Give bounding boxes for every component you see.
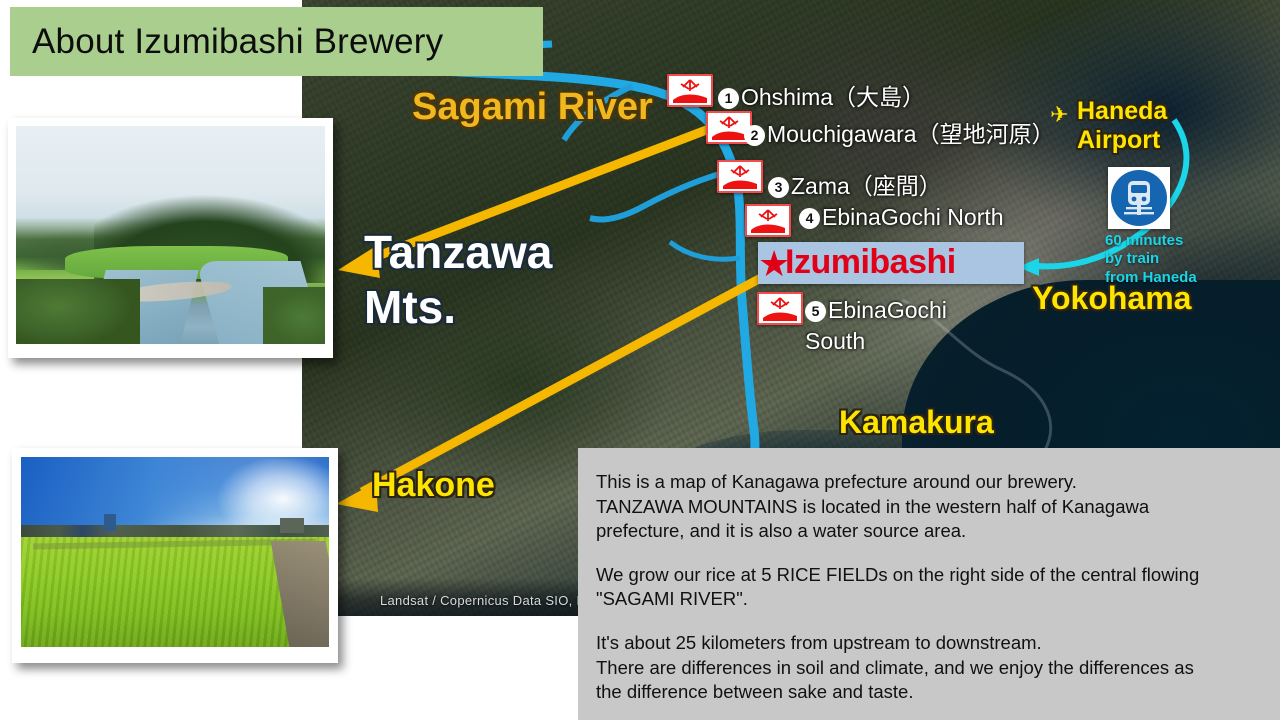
map-attribution-text: Landsat / Copernicus Data SIO, N [380,593,586,608]
rice-field-label-3: 3Zama（座間） [768,167,942,201]
label-hakone: Hakone [372,468,495,504]
rice-field-number-1: 1 [718,88,739,109]
label-haneda-airport-line1: Haneda [1077,98,1167,124]
train-icon [1124,181,1154,217]
rice-sheaf-icon-4 [745,204,791,237]
description-line-5: "SAGAMI RIVER". [596,587,1258,612]
tributary-2 [590,170,734,220]
label-yokohama: Yokohama [1032,282,1191,316]
rice-field-number-5: 5 [805,301,826,322]
rice-field-label-5-line2: South [805,328,865,355]
title-banner: About Izumibashi Brewery [10,7,543,76]
description-line-6: It's about 25 kilometers from upstream t… [596,631,1258,656]
slide-canvas: 1Ohshima（大島） 2Mouchigawara（望地河原） 3Zama（座… [0,0,1280,720]
rice-field-name-5-line2: South [805,328,865,354]
rice-field-name-1: Ohshima（大島） [741,84,925,110]
rice-field-label-5: 5EbinaGochi [805,297,947,324]
train-badge [1108,167,1170,229]
rice-field-name-3: Zama（座間） [791,173,942,199]
photo-sagami-river-valley[interactable] [8,118,333,358]
photo-bush-left [16,279,140,344]
photo-tower-building [104,514,116,531]
rice-field-number-4: 4 [799,208,820,229]
label-tanzawa-mts-line1: Tanzawa [364,228,552,276]
photo-bush-right [263,287,325,344]
rice-sheaf-icon-1 [667,74,713,107]
description-line-8: the difference between sake and taste. [596,680,1258,705]
train-duration-note: 60 minutesby trainfrom Haneda [1105,232,1197,287]
rice-sheaf-icon-5 [757,292,803,325]
rice-field-number-2: 2 [744,125,765,146]
rice-field-name-2: Mouchigawara（望地河原） [767,121,1055,147]
airplane-icon: ✈ [1050,102,1068,128]
photo-bottom-image [21,457,329,647]
label-sagami-river: Sagami River [412,88,653,128]
label-tanzawa-mts-line2: Mts. [364,283,456,331]
rice-field-number-3: 3 [768,177,789,198]
page-title: About Izumibashi Brewery [10,22,443,62]
photo-building-right [280,518,305,533]
rice-field-name-4: EbinaGochi North [822,204,1004,230]
rice-field-label-1: 1Ohshima（大島） [718,78,925,112]
description-line-4: We grow our rice at 5 RICE FIELDs on the… [596,563,1258,588]
description-line-3: prefecture, and it is also a water sourc… [596,519,1258,544]
rice-sheaf-icon-3 [717,160,763,193]
izumibashi-label[interactable]: Izumibashi [785,243,956,282]
photo-rice-paddy-field[interactable] [12,448,338,663]
tributary-3 [670,242,740,259]
label-haneda-airport-line2: Airport [1077,127,1160,153]
description-line-1: This is a map of Kanagawa prefecture aro… [596,470,1258,495]
photo-top-image [16,126,325,344]
rice-field-label-2: 2Mouchigawara（望地河原） [744,115,1055,149]
label-kamakura: Kamakura [839,406,994,440]
paragraph-gap-1 [596,544,1258,563]
rice-field-name-5: EbinaGochi [828,297,947,323]
paragraph-gap-2 [596,612,1258,631]
description-line-7: There are differences in soil and climat… [596,656,1258,681]
description-line-2: TANZAWA MOUNTAINS is located in the west… [596,495,1258,520]
description-panel: This is a map of Kanagawa prefecture aro… [578,448,1280,720]
rice-field-label-4: 4EbinaGochi North [799,204,1004,231]
